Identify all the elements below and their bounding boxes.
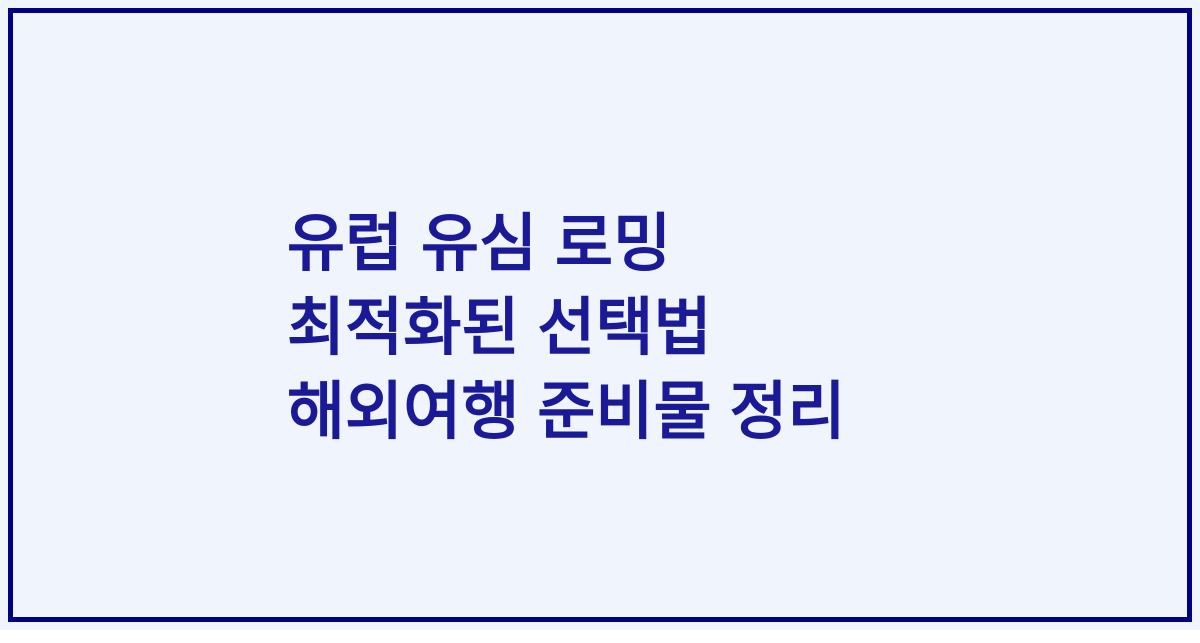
title-line-3: 해외여행 준비물 정리 (287, 370, 846, 454)
title-block: 유럽 유심 로밍 최적화된 선택법 해외여행 준비물 정리 (287, 13, 967, 643)
card-border-frame: 유럽 유심 로밍 최적화된 선택법 해외여행 준비물 정리 (8, 8, 1192, 622)
title-line-2: 최적화된 선택법 (287, 286, 712, 370)
thumbnail-card: 유럽 유심 로밍 최적화된 선택법 해외여행 준비물 정리 (0, 0, 1200, 630)
title-line-1: 유럽 유심 로밍 (287, 202, 671, 286)
